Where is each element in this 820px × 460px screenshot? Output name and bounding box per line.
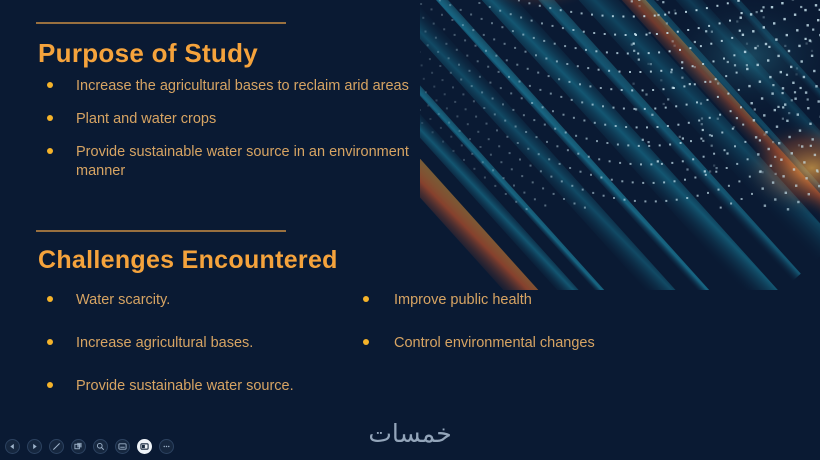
list-item: Increase agricultural bases.	[36, 334, 352, 353]
challenges-bullet-list-left: Water scarcity. Increase agricultural ba…	[36, 283, 352, 396]
list-item-label: Plant and water crops	[76, 111, 216, 127]
list-item-label: Increase the agricultural bases to recla…	[76, 78, 409, 94]
list-item-label: Improve public health	[394, 292, 532, 308]
purpose-bullet-list: Increase the agricultural bases to recla…	[36, 77, 456, 182]
next-slide-button[interactable]	[27, 439, 42, 454]
previous-slide-button[interactable]	[5, 439, 20, 454]
section-divider-rule	[36, 230, 286, 232]
slide-content: Purpose of Study Increase the agricultur…	[0, 0, 820, 430]
bullet-dot-icon	[47, 296, 53, 302]
list-item: Control environmental changes	[352, 334, 752, 353]
list-item-label: Control environmental changes	[394, 335, 595, 351]
page-title-purpose: Purpose of Study	[38, 38, 456, 69]
bullet-dot-icon	[47, 82, 53, 88]
next-icon	[31, 443, 38, 450]
section-purpose-of-study: Purpose of Study Increase the agricultur…	[36, 22, 456, 182]
slides-icon	[74, 442, 83, 451]
slides-overview-button[interactable]	[71, 439, 86, 454]
list-item: Provide sustainable water source.	[36, 377, 352, 396]
list-item: Improve public health	[352, 291, 752, 310]
previous-icon	[9, 443, 16, 450]
list-item: Plant and water crops	[36, 110, 456, 129]
bullet-dot-icon	[47, 339, 53, 345]
magnifier-icon	[96, 442, 105, 451]
presentation-toolbar[interactable]	[0, 432, 820, 460]
list-item: Increase the agricultural bases to recla…	[36, 77, 456, 96]
bullet-dot-icon	[363, 296, 369, 302]
section-challenges-encountered: Challenges Encountered Water scarcity. I…	[36, 230, 752, 396]
presenter-icon	[140, 442, 149, 451]
list-item-label: Increase agricultural bases.	[76, 335, 253, 351]
presentation-slide: Purpose of Study Increase the agricultur…	[0, 0, 820, 460]
list-item-label: Water scarcity.	[76, 292, 170, 308]
challenges-bullet-list-right: Improve public health Control environmen…	[352, 283, 752, 396]
pen-tool-button[interactable]	[49, 439, 64, 454]
bullet-dot-icon	[47, 115, 53, 121]
ellipsis-icon	[162, 442, 171, 451]
page-title-challenges: Challenges Encountered	[38, 246, 752, 275]
pen-icon	[52, 442, 61, 451]
notes-icon	[118, 442, 127, 451]
zoom-button[interactable]	[93, 439, 108, 454]
section-divider-rule	[36, 22, 286, 24]
list-item: Water scarcity.	[36, 291, 352, 310]
challenges-columns: Water scarcity. Increase agricultural ba…	[36, 283, 752, 396]
list-item: Provide sustainable water source in an e…	[36, 143, 456, 181]
list-item-label: Provide sustainable water source.	[76, 378, 294, 394]
speaker-notes-button[interactable]	[115, 439, 130, 454]
bullet-dot-icon	[47, 148, 53, 154]
presenter-view-button[interactable]	[137, 439, 152, 454]
bullet-dot-icon	[47, 382, 53, 388]
more-options-button[interactable]	[159, 439, 174, 454]
list-item-label: Provide sustainable water source in an e…	[76, 144, 409, 179]
bullet-dot-icon	[363, 339, 369, 345]
